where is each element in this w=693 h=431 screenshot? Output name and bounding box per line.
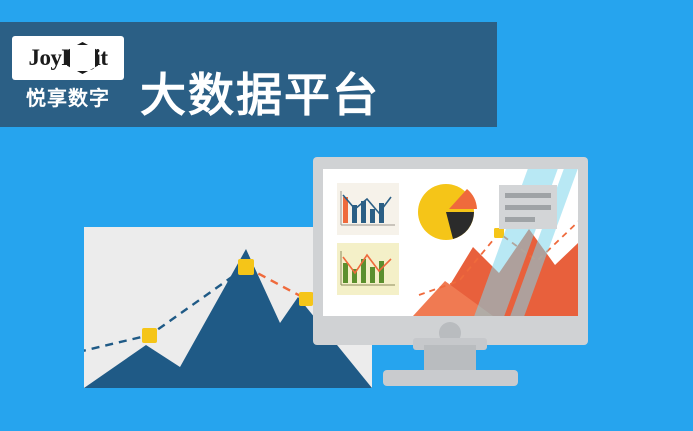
monitor-base	[383, 370, 518, 386]
data-marker	[238, 259, 254, 275]
poster-canvas: JoyDigit 悦享数字 大数据平台	[0, 0, 693, 431]
data-marker	[299, 292, 313, 306]
text-block-widget	[499, 185, 557, 229]
text-line	[505, 193, 551, 198]
text-line	[505, 205, 551, 210]
line-chart-widget-top	[337, 183, 399, 235]
brand-logo: JoyDigit 悦享数字	[12, 32, 124, 118]
line-chart-top-svg	[337, 183, 399, 235]
logo-subtitle: 悦享数字	[12, 84, 124, 114]
logo-wordmark-plate: JoyDigit	[12, 36, 124, 80]
monitor-screen	[323, 169, 578, 316]
line-chart-bottom-svg	[337, 243, 399, 295]
pie-chart-widget	[415, 181, 481, 247]
page-title: 大数据平台	[140, 72, 380, 118]
text-line	[505, 217, 535, 222]
header-banner: JoyDigit 悦享数字 大数据平台	[0, 22, 497, 127]
pie-chart-svg	[415, 181, 481, 247]
desktop-monitor	[313, 157, 588, 345]
data-marker	[142, 328, 157, 343]
line-chart-widget-bottom	[337, 243, 399, 295]
bottom-band	[0, 388, 693, 431]
